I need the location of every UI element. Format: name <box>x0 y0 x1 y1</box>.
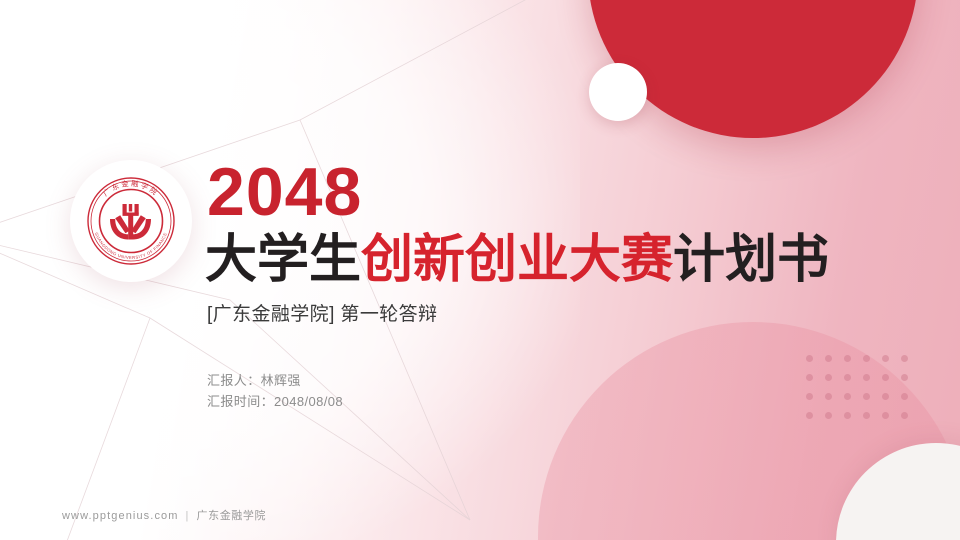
footer-website: www.pptgenius.com <box>62 509 179 523</box>
logo-center-mark <box>110 204 151 240</box>
date-line: 汇报时间：2048/08/08 <box>207 391 343 412</box>
presentation-meta: 汇报人：林辉强 汇报时间：2048/08/08 <box>207 370 343 412</box>
university-logo: 广东金融学院 GUANGDONG UNIVERSITY OF FINANCE <box>70 160 192 282</box>
main-title-part-1: 大学生 <box>205 231 361 289</box>
footer-organization: 广东金融学院 <box>197 509 267 523</box>
main-title: 大学生创新创业大赛计划书 <box>205 232 829 288</box>
presentation-title-slide: 广东金融学院 GUANGDONG UNIVERSITY OF FINANCE 2… <box>0 0 960 540</box>
university-emblem-icon: 广东金融学院 GUANGDONG UNIVERSITY OF FINANCE <box>81 171 181 271</box>
main-title-part-3: 计划书 <box>673 231 829 289</box>
footer: www.pptgenius.com | 广东金融学院 <box>62 509 266 523</box>
presenter-line: 汇报人：林辉强 <box>207 370 343 391</box>
main-title-part-2: 创新创业大赛 <box>361 231 673 289</box>
subtitle: [广东金融学院] 第一轮答辩 <box>207 303 437 327</box>
logo-chinese-ring-text: 广东金融学院 <box>101 179 161 198</box>
year-heading: 2048 <box>207 158 362 226</box>
title-content-block: 2048 大学生创新创业大赛计划书 [广东金融学院] 第一轮答辩 汇报人：林辉强… <box>207 0 907 540</box>
footer-separator: | <box>186 509 190 523</box>
